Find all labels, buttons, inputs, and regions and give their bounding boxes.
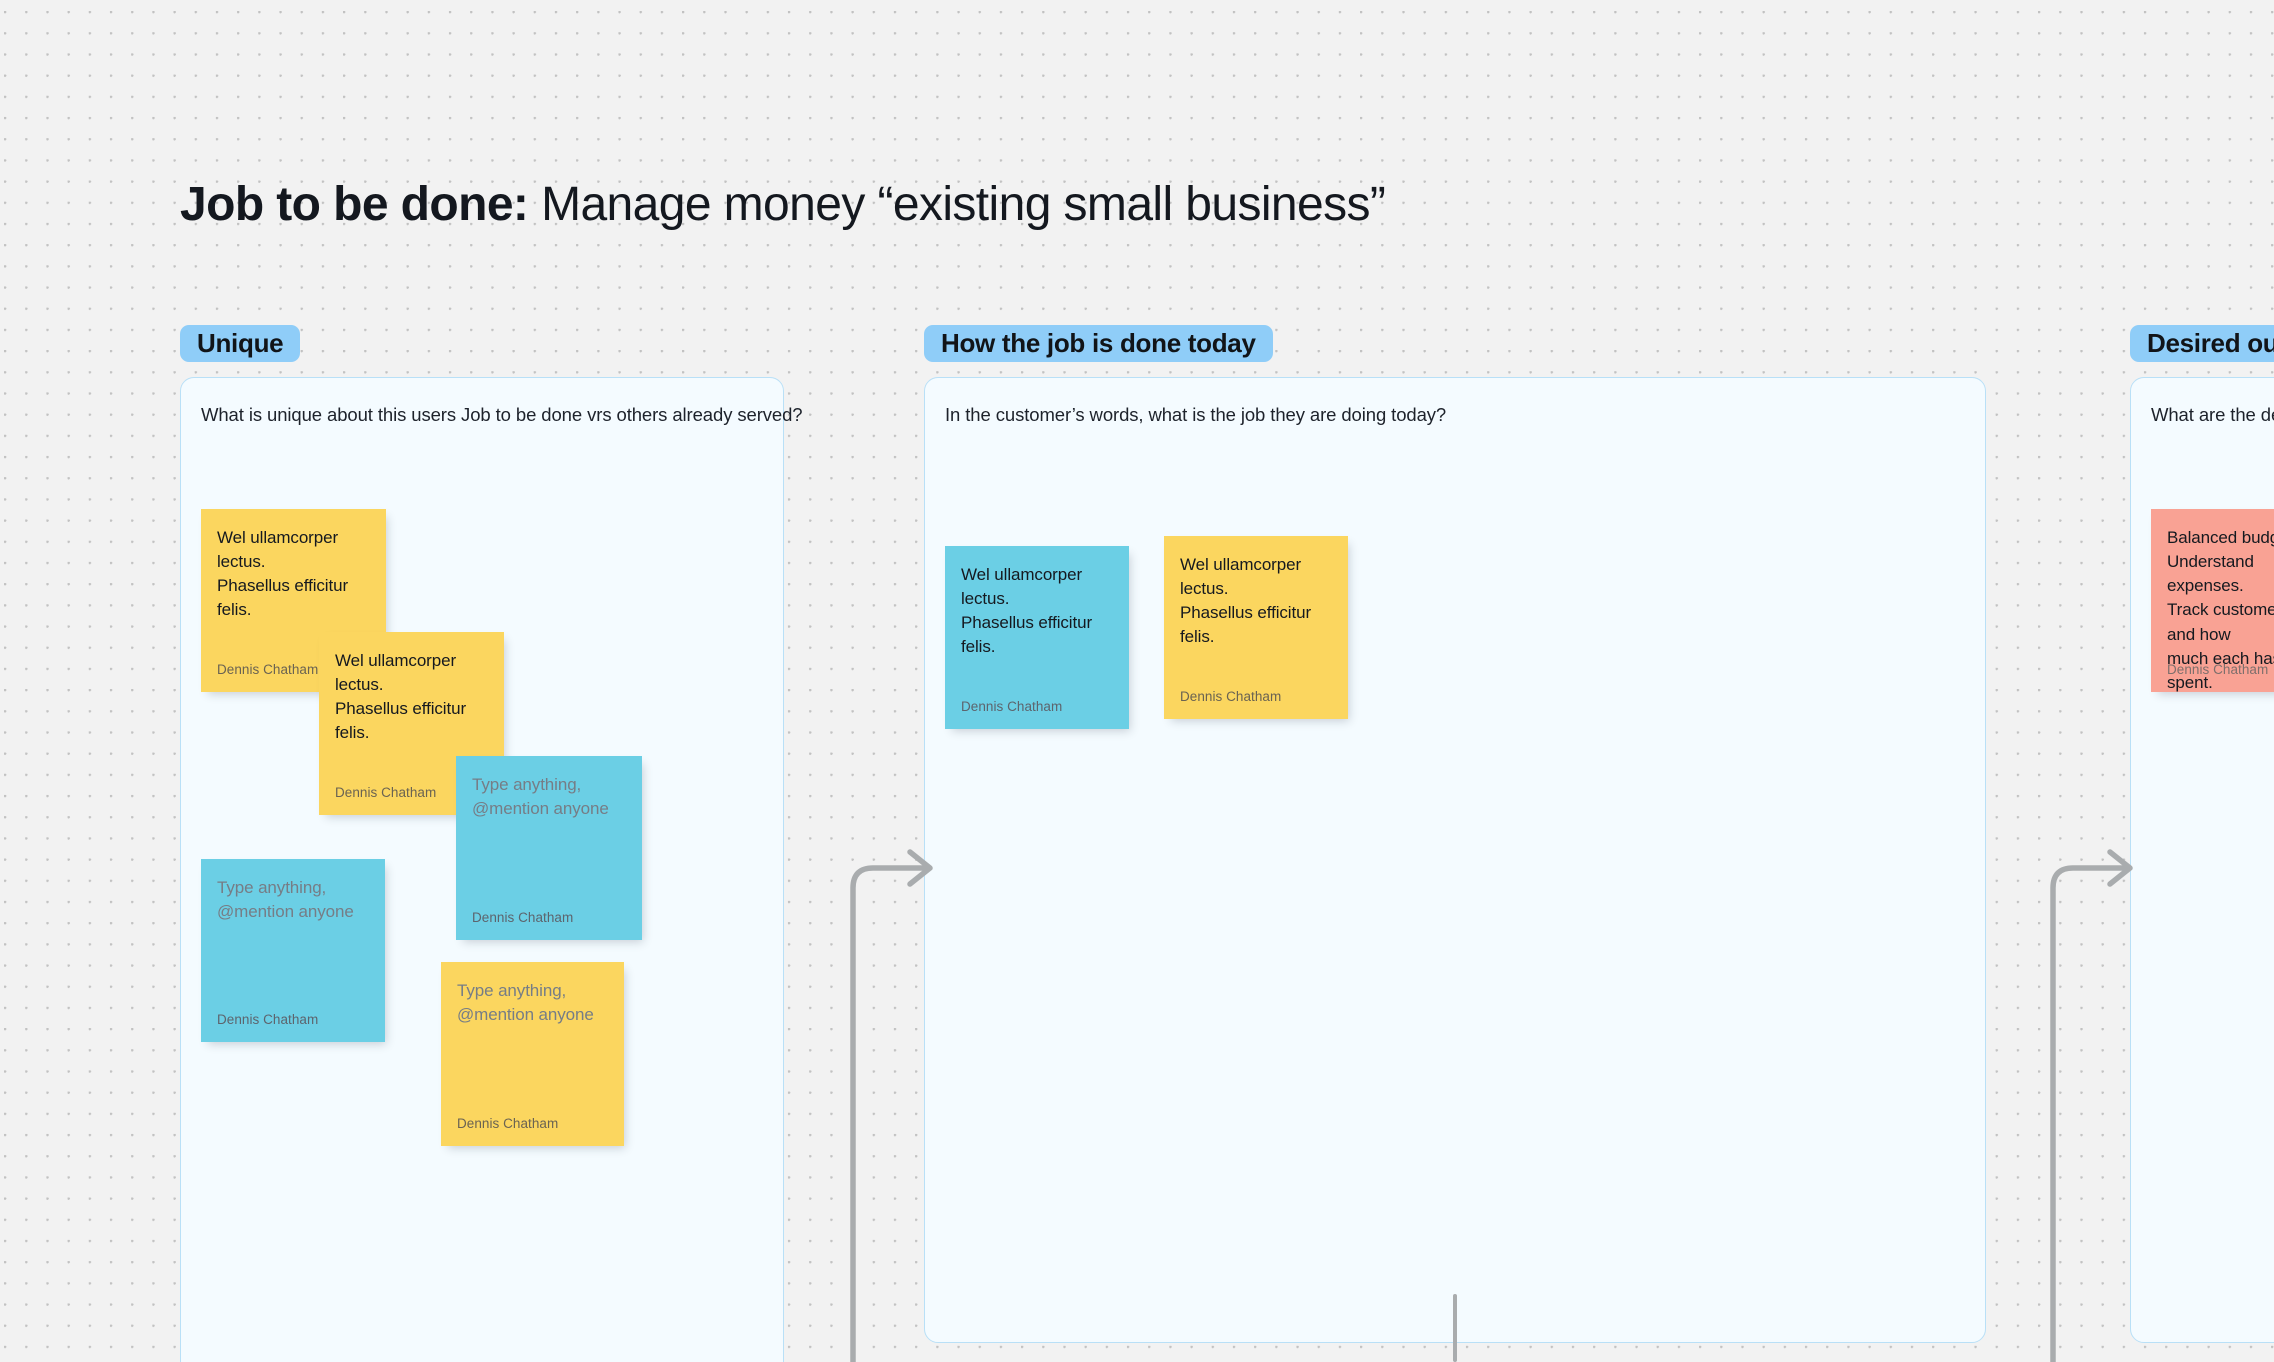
column-chip-how-the-job-is-done-today[interactable]: How the job is done today xyxy=(924,325,1273,362)
sticky-note[interactable]: Wel ullamcorper lectus. Phasellus effici… xyxy=(1164,536,1348,719)
sticky-note-author: Dennis Chatham xyxy=(217,662,318,677)
column-divider-handle[interactable] xyxy=(1453,1294,1457,1362)
sticky-note-author: Dennis Chatham xyxy=(217,1012,318,1027)
sticky-note-author: Dennis Chatham xyxy=(457,1116,558,1131)
column-question-unique: What is unique about this users Job to b… xyxy=(201,404,803,426)
sticky-note[interactable]: Type anything, @mention anyone Dennis Ch… xyxy=(456,756,642,940)
column-chip-unique[interactable]: Unique xyxy=(180,325,300,362)
sticky-note-placeholder[interactable]: Type anything, @mention anyone xyxy=(217,876,369,924)
column-panel-unique[interactable]: What is unique about this users Job to b… xyxy=(180,377,784,1362)
sticky-note-text[interactable]: Wel ullamcorper lectus. Phasellus effici… xyxy=(961,563,1113,660)
sticky-note[interactable]: Type anything, @mention anyone Dennis Ch… xyxy=(201,859,385,1042)
sticky-note-author: Dennis Chatham xyxy=(2167,662,2268,677)
connector-arrow-unique-to-how-the-job[interactable] xyxy=(840,810,960,1362)
sticky-note[interactable]: Type anything, @mention anyone Dennis Ch… xyxy=(441,962,624,1146)
column-question-how-the-job-is-done-today: In the customer’s words, what is the job… xyxy=(945,404,1446,426)
column-question-desired-outcome: What are the desired outcomes? xyxy=(2151,404,2274,426)
sticky-note[interactable]: Balanced budget. Understand expenses. Tr… xyxy=(2151,509,2274,692)
board-title-value: Manage money “existing small business” xyxy=(541,178,1385,231)
sticky-note-text[interactable]: Wel ullamcorper lectus. Phasellus effici… xyxy=(335,649,488,746)
board-title: Job to be done: Manage money “existing s… xyxy=(180,175,1385,235)
sticky-note-text[interactable]: Wel ullamcorper lectus. Phasellus effici… xyxy=(1180,553,1332,650)
connector-arrow-how-the-job-to-desired-outcome[interactable] xyxy=(2040,810,2160,1362)
sticky-note-author: Dennis Chatham xyxy=(961,699,1062,714)
sticky-note-author: Dennis Chatham xyxy=(335,785,436,800)
board-title-label: Job to be done: xyxy=(180,178,528,231)
sticky-note-text[interactable]: Wel ullamcorper lectus. Phasellus effici… xyxy=(217,526,370,623)
whiteboard-canvas[interactable]: Job to be done: Manage money “existing s… xyxy=(0,0,2274,1362)
sticky-note-author: Dennis Chatham xyxy=(1180,689,1281,704)
column-panel-how-the-job-is-done-today[interactable]: In the customer’s words, what is the job… xyxy=(924,377,1986,1343)
sticky-note-placeholder[interactable]: Type anything, @mention anyone xyxy=(472,773,626,821)
column-chip-desired-outcome[interactable]: Desired outcome xyxy=(2130,325,2274,362)
sticky-note-author: Dennis Chatham xyxy=(472,910,573,925)
sticky-note-placeholder[interactable]: Type anything, @mention anyone xyxy=(457,979,608,1027)
sticky-note[interactable]: Wel ullamcorper lectus. Phasellus effici… xyxy=(945,546,1129,729)
